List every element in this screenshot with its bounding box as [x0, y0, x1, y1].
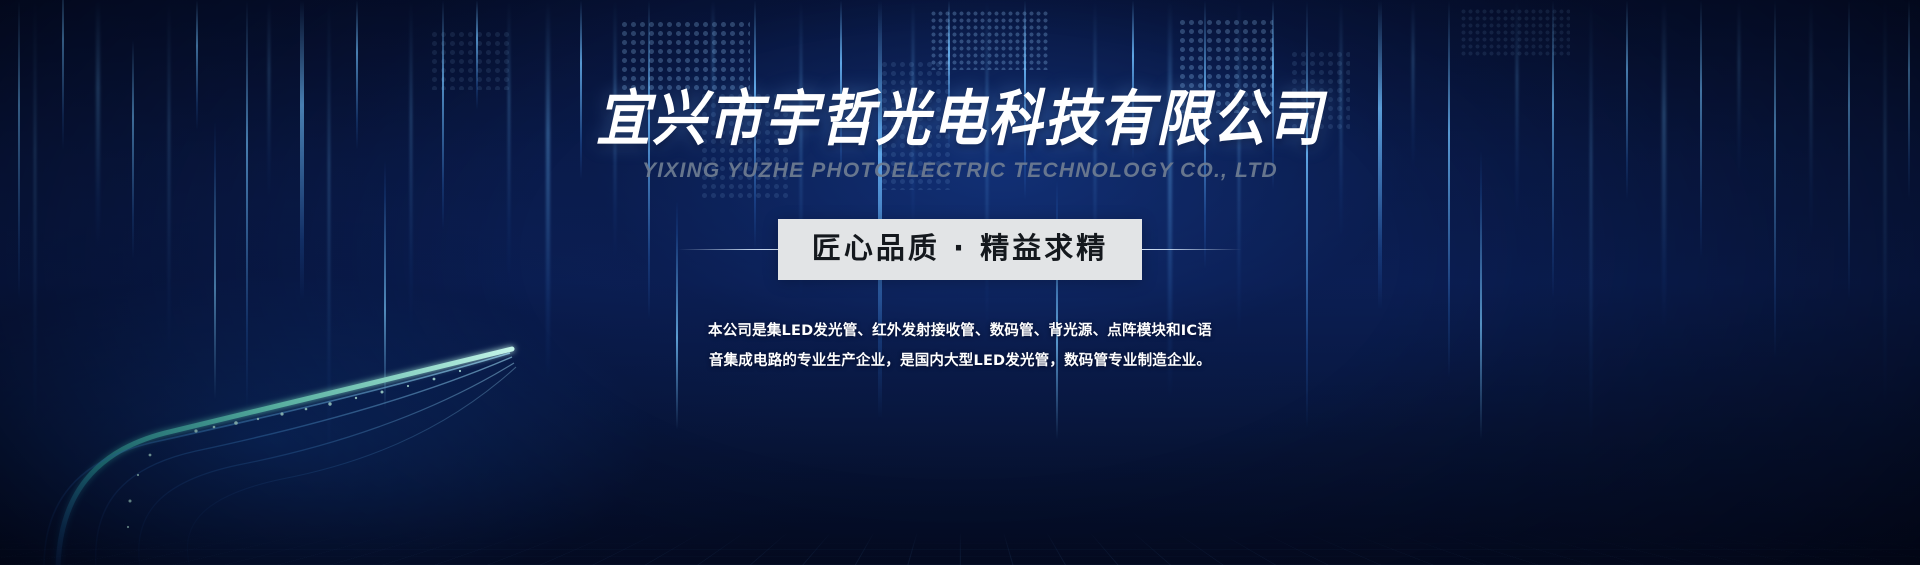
- company-description: 本公司是集LED发光管、红外发射接收管、数码管、背光源、点阵模块和IC语 音集成…: [690, 316, 1230, 377]
- company-name-en: YIXING YUZHE PHOTOELECTRIC TECHNOLOGY CO…: [642, 159, 1278, 183]
- slogan-badge: 匠心品质 · 精益求精: [778, 219, 1142, 280]
- hero-banner: 宜兴市宇哲光电科技有限公司 YIXING YUZHE PHOTOELECTRIC…: [0, 0, 1920, 565]
- slogan-divider-right: [1142, 249, 1242, 250]
- slogan-row: 匠心品质 · 精益求精: [678, 219, 1242, 280]
- company-description-line-2: 音集成电路的专业生产企业，是国内大型LED发光管，数码管专业制造企业。: [690, 346, 1230, 376]
- company-name-cn: 宜兴市宇哲光电科技有限公司: [596, 88, 1324, 151]
- company-description-line-1: 本公司是集LED发光管、红外发射接收管、数码管、背光源、点阵模块和IC语: [690, 316, 1230, 346]
- slogan-divider-left: [678, 249, 778, 250]
- banner-content: 宜兴市宇哲光电科技有限公司 YIXING YUZHE PHOTOELECTRIC…: [0, 0, 1920, 565]
